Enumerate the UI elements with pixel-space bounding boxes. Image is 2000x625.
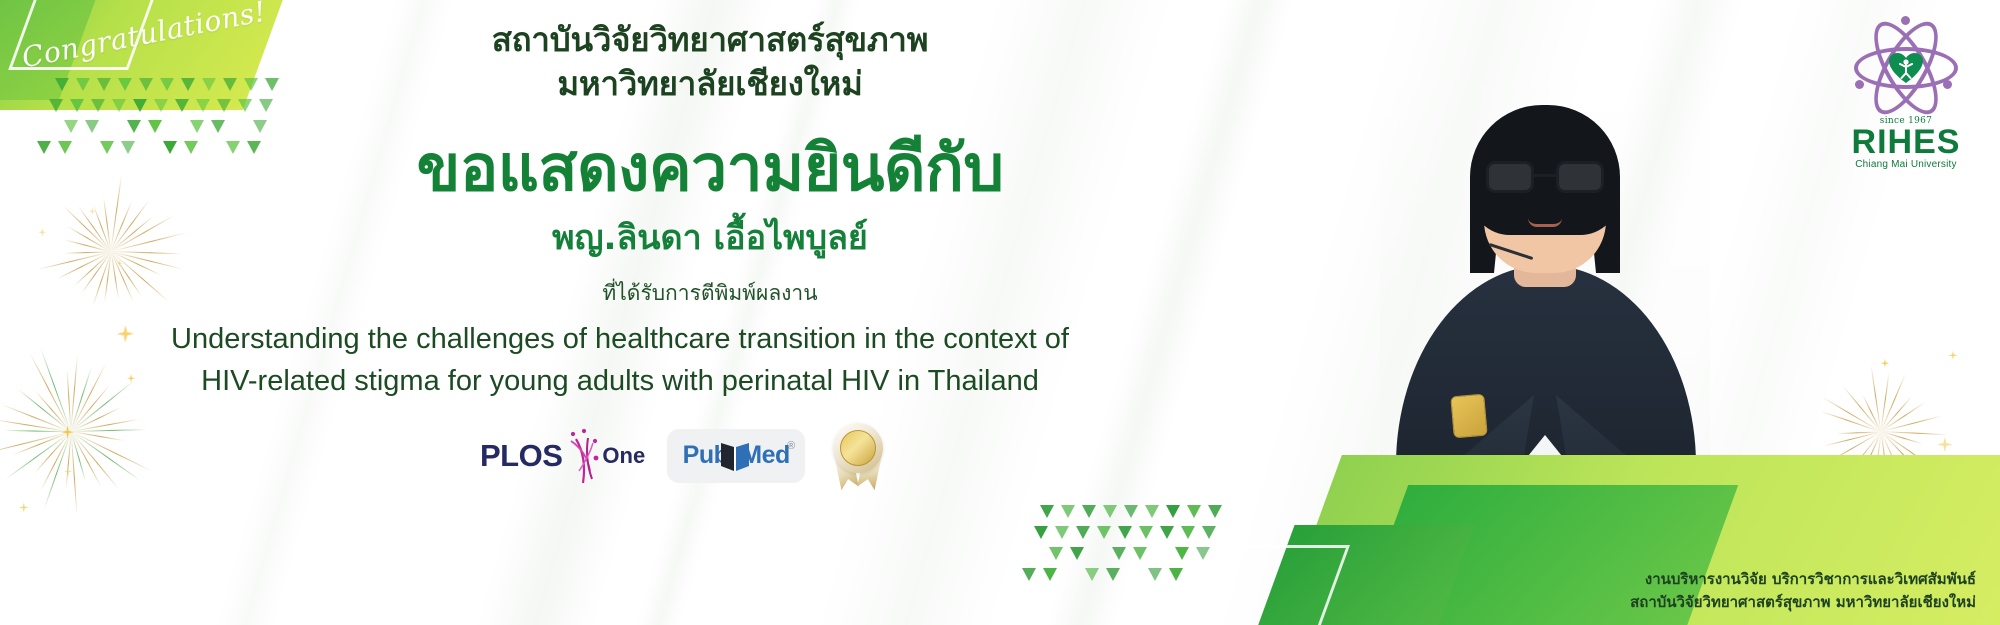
triangle-confetti <box>1070 547 1084 560</box>
organization-heading: สถาบันวิจัยวิทยาศาสตร์สุขภาพ มหาวิทยาลัย… <box>0 18 1420 106</box>
triangle-confetti <box>1022 568 1036 581</box>
triangle-confetti <box>1118 526 1132 539</box>
pubmed-logo: Pub Med ® <box>667 429 805 483</box>
paper-title-line-1: Understanding the challenges of healthca… <box>120 318 1120 360</box>
eyeglass-bridge <box>1534 174 1556 177</box>
triangle-confetti <box>1097 526 1111 539</box>
publication-logo-row: PLOS One Pub Med <box>480 418 900 493</box>
eyeglass-lens-right <box>1556 161 1604 193</box>
triangle-confetti <box>1076 526 1090 539</box>
sparkle-star <box>1881 359 1890 368</box>
triangle-confetti <box>1202 526 1216 539</box>
triangle-confetti <box>1124 505 1138 518</box>
triangle-confetti <box>1169 568 1183 581</box>
plos-one-wordmark: One <box>602 443 645 469</box>
triangle-confetti <box>1187 505 1201 518</box>
triangle-confetti <box>1082 505 1096 518</box>
triangle-confetti <box>1175 547 1189 560</box>
plos-flourish-svg <box>562 427 602 485</box>
triangle-confetti <box>1148 568 1162 581</box>
rihes-university-text: Chiang Mai University <box>1840 159 1972 170</box>
subtitle-publication: ที่ได้รับการตีพิมพ์ผลงาน <box>0 277 1420 310</box>
atom-node-left <box>1855 80 1864 89</box>
footer-line-2: สถาบันวิจัยวิทยาศาสตร์สุขภาพ มหาวิทยาลัย… <box>1630 591 1976 614</box>
honoree-name: พญ.ลินดา เอื้อไพบูลย์ <box>0 218 1420 259</box>
triangle-confetti <box>1196 547 1210 560</box>
atom-icon <box>1851 18 1961 118</box>
triangle-confetti <box>1166 505 1180 518</box>
atom-node-top <box>1901 16 1910 25</box>
plos-one-logo: PLOS One <box>480 427 645 485</box>
heart-figure-icon <box>1889 53 1923 84</box>
photo-smile <box>1528 218 1562 227</box>
footer-department-text: งานบริหารงานวิจัย บริการวิชาการและวิเทศส… <box>1630 568 1976 613</box>
triangle-confetti <box>1133 547 1147 560</box>
triangle-confetti <box>1103 505 1117 518</box>
rihes-logo: since 1967 RIHES Chiang Mai University <box>1840 18 1972 163</box>
organization-line-2: มหาวิทยาลัยเชียงใหม่ <box>0 62 1420 106</box>
congratulations-banner: Congratulations! สถาบันวิจัยวิทยาศาสตร์ส… <box>0 0 2000 625</box>
eyeglass-lens-left <box>1486 161 1534 193</box>
photo-eyeglasses <box>1486 161 1604 195</box>
triangle-confetti <box>1145 505 1159 518</box>
triangle-confetti <box>1181 526 1195 539</box>
atom-node-right <box>1943 80 1952 89</box>
triangle-confetti <box>1043 568 1057 581</box>
triangle-confetti <box>1034 526 1048 539</box>
triangle-confetti <box>1085 568 1099 581</box>
triangle-confetti <box>1055 526 1069 539</box>
triangle-confetti-bottom-right <box>1040 505 1240 615</box>
heart-with-person-svg <box>1889 53 1923 84</box>
paper-title: Understanding the challenges of healthca… <box>120 318 1120 402</box>
triangle-confetti <box>1106 568 1120 581</box>
headline-congratulations: ขอแสดงความยินดีกับ <box>0 134 1420 204</box>
triangle-confetti <box>1139 526 1153 539</box>
paper-title-line-2: HIV-related stigma for young adults with… <box>120 360 1120 402</box>
rihes-wordmark: RIHES <box>1840 126 1972 158</box>
footer-line-1: งานบริหารงานวิจัย บริการวิชาการและวิเทศส… <box>1630 568 1976 591</box>
medal-inner-disc <box>840 430 876 466</box>
plos-wordmark: PLOS <box>480 438 562 474</box>
triangle-confetti <box>1208 505 1222 518</box>
plos-burst-icon <box>562 427 602 485</box>
sparkle-star <box>1948 351 1957 360</box>
triangle-confetti <box>1061 505 1075 518</box>
triangle-confetti <box>1040 505 1054 518</box>
book-icon-svg <box>719 439 751 473</box>
gold-medal-icon <box>827 421 889 491</box>
open-book-icon <box>719 439 751 473</box>
triangle-confetti <box>1049 547 1063 560</box>
triangle-confetti <box>1112 547 1126 560</box>
organization-line-1: สถาบันวิจัยวิทยาศาสตร์สุขภาพ <box>0 18 1420 62</box>
triangle-confetti <box>1160 526 1174 539</box>
